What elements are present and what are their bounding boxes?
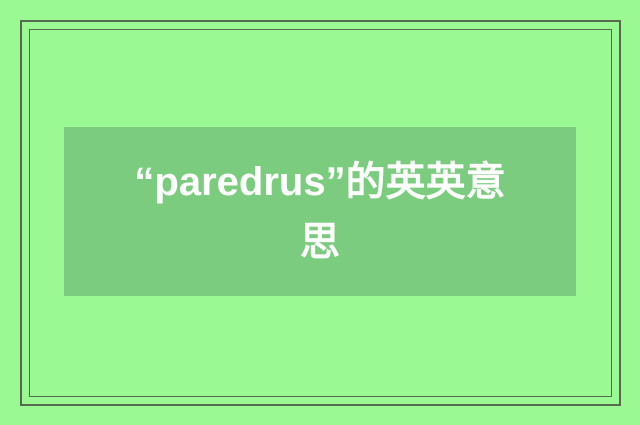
poster-canvas: “paredrus”的英英意思 xyxy=(0,0,640,425)
page-title: “paredrus”的英英意思 xyxy=(64,152,576,272)
title-banner: “paredrus”的英英意思 xyxy=(64,127,576,296)
